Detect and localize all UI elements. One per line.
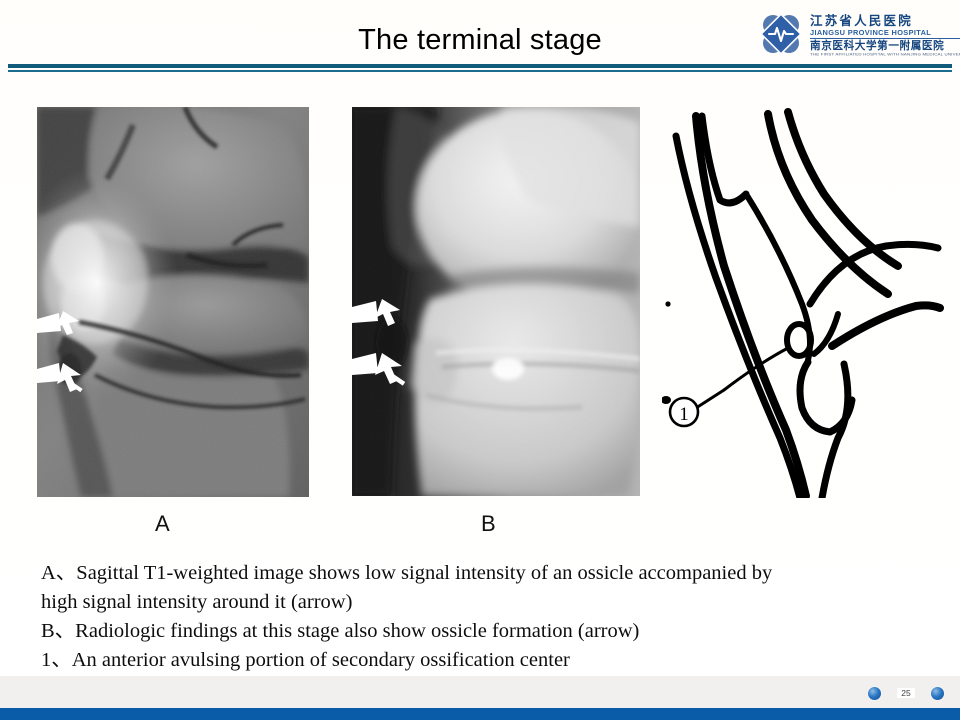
figure-panel-knee-diagram: 1 [662, 108, 944, 498]
slide-body-text: A、Sagittal T1-weighted image shows low s… [41, 559, 931, 675]
figure-panel-b-radiograph [352, 107, 640, 496]
footer-accent-bar [0, 708, 960, 720]
figure-row: 1 [0, 0, 960, 500]
next-slide-dot-icon[interactable] [931, 687, 944, 700]
panel-b-caption: B [481, 511, 496, 537]
body-line-2: high signal intensity around it (arrow) [41, 588, 931, 617]
figure-panel-a-mri [37, 107, 309, 497]
diagram-callout-1: 1 [670, 398, 698, 426]
panel-a-caption: A [155, 511, 170, 537]
body-line-3: B、Radiologic findings at this stage also… [41, 617, 931, 646]
body-line-1: A、Sagittal T1-weighted image shows low s… [41, 559, 931, 588]
previous-slide-dot-icon[interactable] [868, 687, 881, 700]
page-number: 25 [897, 688, 914, 699]
footer-navigation: 25 [868, 683, 944, 703]
body-line-4: 1、An anterior avulsing portion of second… [41, 646, 931, 675]
svg-text:1: 1 [679, 404, 689, 425]
